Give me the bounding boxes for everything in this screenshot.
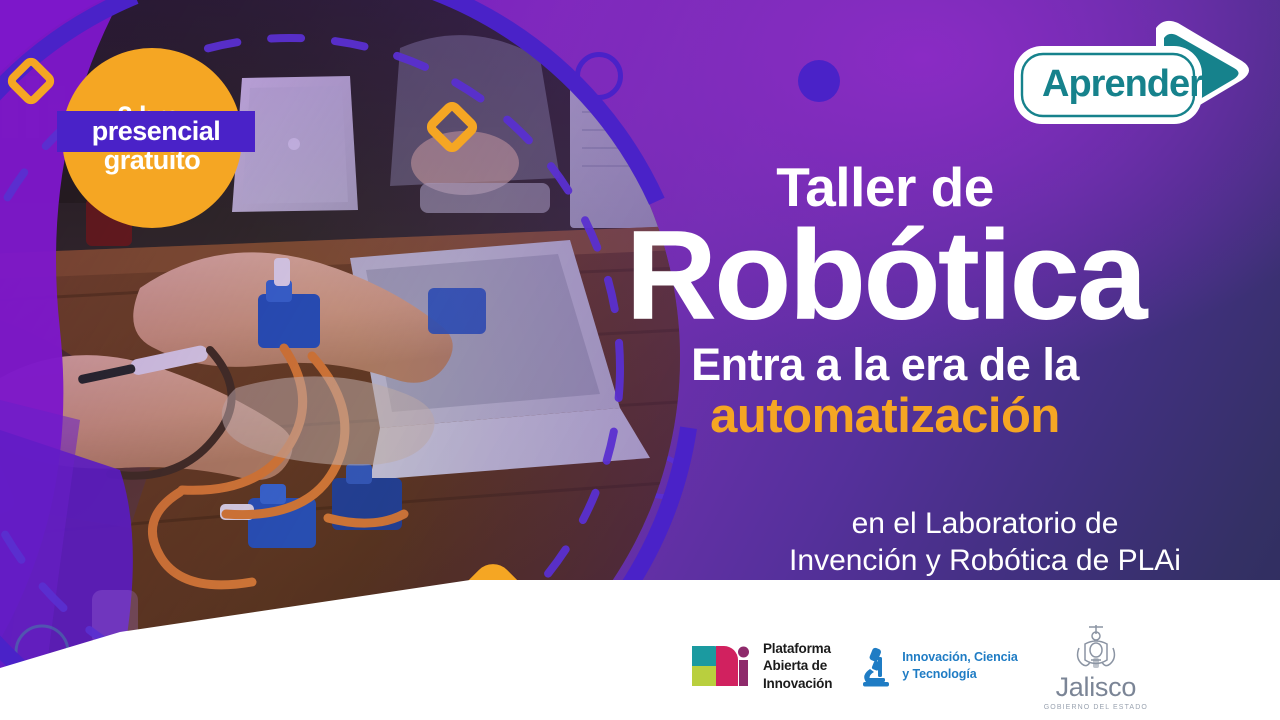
logo-plai[interactable]: Plataforma Abierta de Innovación — [690, 640, 832, 692]
jalisco-tagline: GOBIERNO DEL ESTADO — [1044, 704, 1148, 711]
plai-line-2: Abierta de — [763, 657, 832, 674]
small-diamond-top — [421, 96, 483, 158]
aprender-label: Aprender — [1042, 63, 1204, 105]
duration-badge: 2 hrs. presencial gratuito — [62, 48, 242, 228]
headline-subtitle-accent: automatización — [500, 391, 1270, 442]
badge-mode-band: presencial — [57, 111, 255, 152]
aprender-logo-svg: Aprender — [1004, 14, 1266, 140]
small-diamond-left — [2, 52, 60, 110]
plai-line-1: Plataforma — [763, 640, 832, 657]
ict-line-1: Innovación, Ciencia — [902, 649, 1018, 666]
jalisco-coat-of-arms-icon — [1065, 622, 1127, 672]
dot-top-right — [798, 60, 840, 102]
poster-canvas: 2 hrs. presencial gratuito Aprender Tall… — [0, 0, 1280, 720]
aprender-logo[interactable]: Aprender — [1004, 14, 1266, 140]
badge-mode: presencial — [92, 118, 221, 145]
headline-title: Robótica — [500, 213, 1270, 337]
plai-line-3: Innovación — [763, 675, 832, 692]
jalisco-name: Jalisco — [1056, 674, 1136, 701]
venue-line-2: Invención y Robótica de PLAi — [700, 542, 1270, 579]
venue-description: en el Laboratorio de Invención y Robótic… — [700, 505, 1270, 579]
logo-innovacion-ciencia-tecnologia[interactable]: Innovación, Ciencia y Tecnología — [858, 645, 1018, 687]
headline-block: Taller de Robótica Entra a la era de la … — [500, 160, 1270, 442]
plai-mark-icon — [690, 644, 754, 688]
headline-subtitle: Entra a la era de la — [500, 341, 1270, 388]
plai-label: Plataforma Abierta de Innovación — [763, 640, 832, 692]
logo-jalisco[interactable]: Jalisco GOBIERNO DEL ESTADO — [1044, 622, 1148, 711]
ict-label: Innovación, Ciencia y Tecnología — [902, 649, 1018, 683]
venue-line-1: en el Laboratorio de — [700, 505, 1270, 542]
microscope-icon — [858, 645, 892, 687]
ict-line-2: y Tecnología — [902, 666, 1018, 683]
partner-logos: Plataforma Abierta de Innovación Innovac… — [690, 612, 1280, 720]
